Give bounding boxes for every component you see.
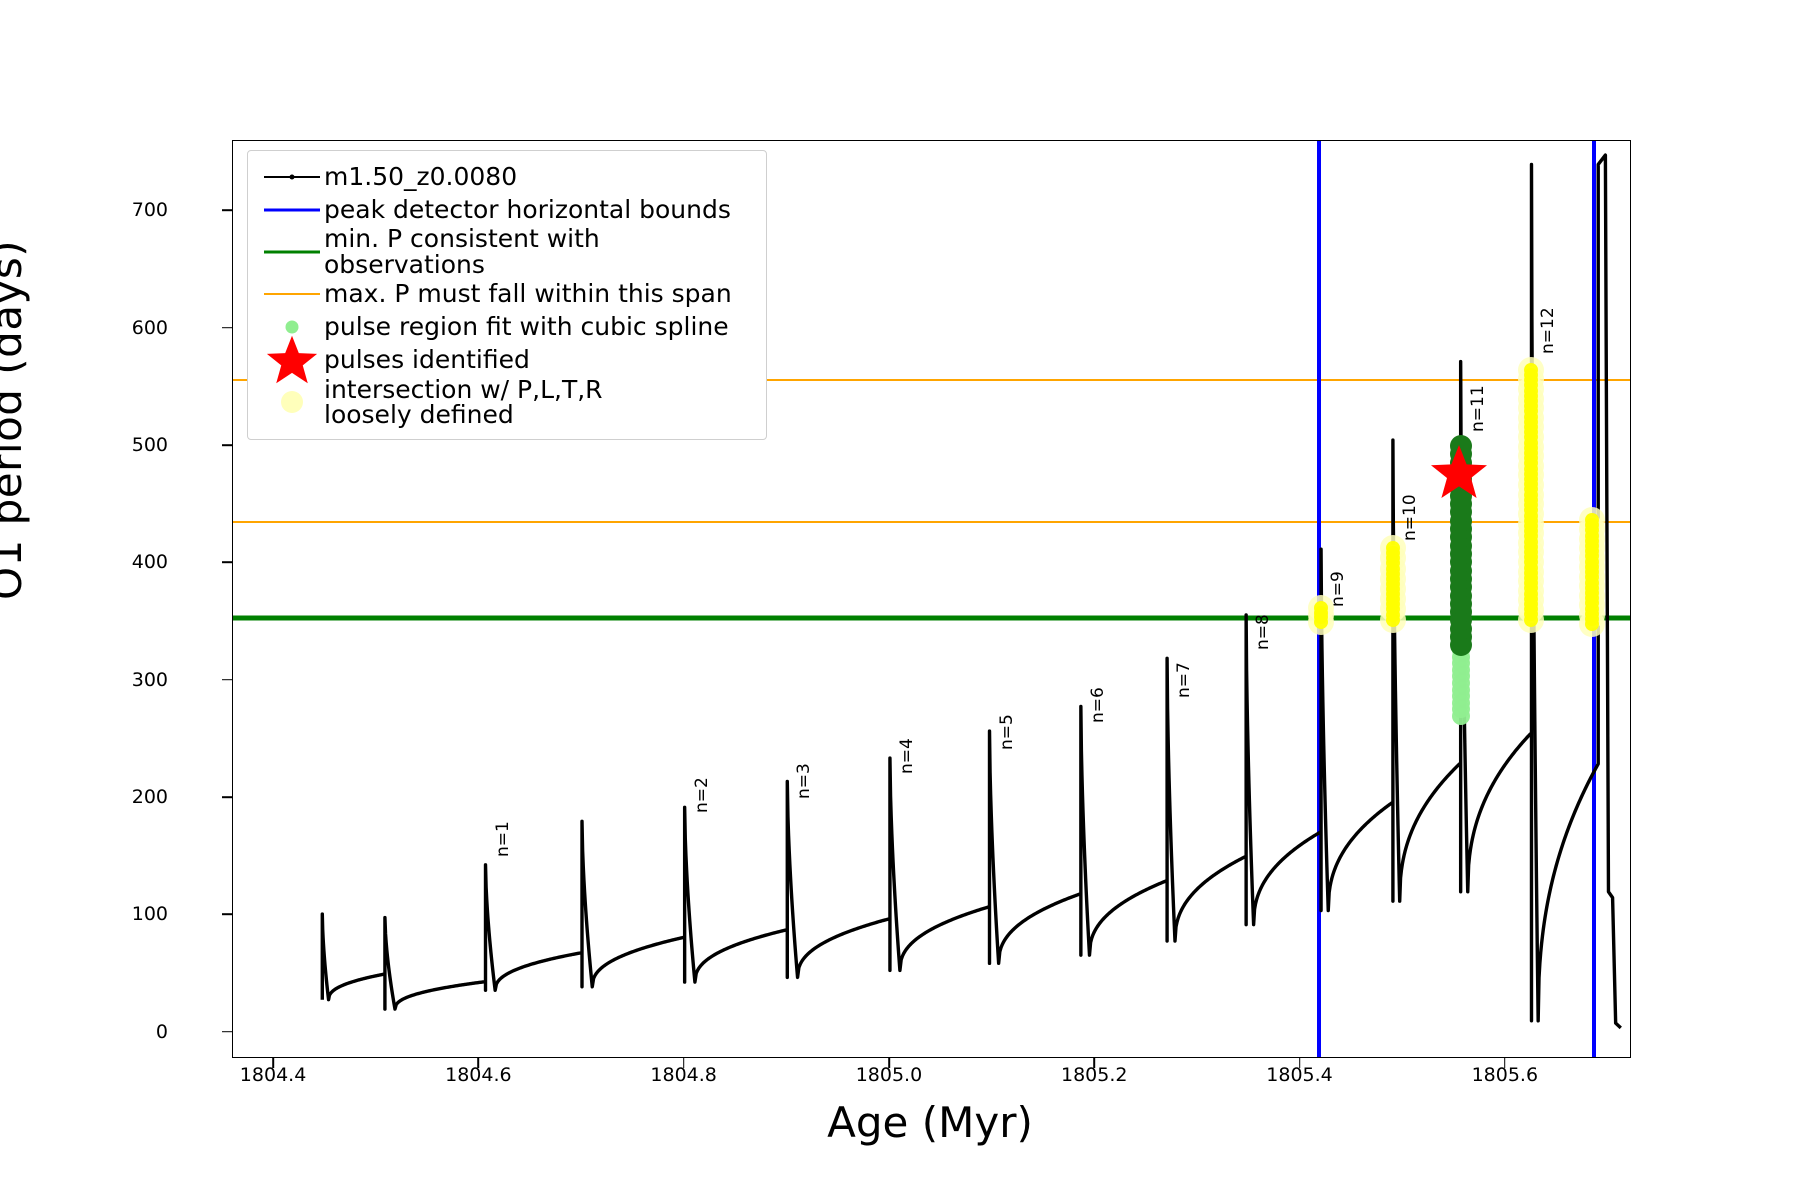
pulse-number-label: n=10 (1400, 495, 1420, 542)
x-tick-mark (1299, 1058, 1301, 1068)
pulse-number-label: n=6 (1088, 687, 1108, 723)
y-tick-mark (222, 444, 232, 446)
legend-entry-label: peak detector horizontal bounds (324, 197, 731, 223)
legend-entry[interactable]: peak detector horizontal bounds (260, 193, 752, 226)
x-tick-mark (1093, 1058, 1095, 1068)
legend-entry[interactable]: pulses identified (260, 343, 752, 376)
x-tick-mark (888, 1058, 890, 1068)
pulse-number-label: n=4 (897, 738, 917, 774)
x-tick-mark (683, 1058, 685, 1068)
legend-entry-label: intersection w/ P,L,T,R loosely defined (324, 377, 603, 428)
x-axis-label: Age (Myr) (0, 1098, 1800, 1147)
legend-star-icon (265, 334, 319, 386)
pulse-number-label: n=12 (1538, 307, 1558, 354)
legend-entry[interactable]: intersection w/ P,L,T,R loosely defined (260, 376, 752, 428)
pulse-number-label: n=2 (692, 778, 712, 814)
x-tick-mark (478, 1058, 480, 1068)
y-tick-mark (222, 1031, 232, 1033)
y-tick-label: 300 (48, 669, 168, 691)
pulse-number-label: n=1 (493, 821, 513, 857)
y-tick-mark (222, 796, 232, 798)
y-tick-mark (222, 679, 232, 681)
pulse-number-label: n=7 (1174, 663, 1194, 699)
legend-key-line-icon (260, 238, 324, 266)
legend-entry-label: m1.50_z0.0080 (324, 164, 517, 190)
pulse-number-label: n=8 (1253, 614, 1273, 650)
legend-key-star-icon (260, 346, 324, 374)
legend-key-dot-large-icon (260, 388, 324, 416)
y-tick-label: 700 (48, 199, 168, 221)
intersection-marker (1314, 601, 1328, 615)
y-tick-label: 200 (48, 786, 168, 808)
y-tick-label: 0 (48, 1021, 168, 1043)
legend-key-line-thin-icon (260, 280, 324, 308)
intersection-marker (1386, 541, 1400, 555)
y-tick-label: 100 (48, 903, 168, 925)
y-tick-label: 600 (48, 317, 168, 339)
intersection-marker (1585, 513, 1599, 527)
y-tick-label: 500 (48, 434, 168, 456)
pulse-number-label: n=11 (1468, 385, 1488, 432)
legend-entry[interactable]: m1.50_z0.0080 (260, 160, 752, 193)
legend-point-marker-icon (290, 174, 295, 179)
legend-entry[interactable]: max. P must fall within this span (260, 277, 752, 310)
pulse-star-marker (1429, 443, 1489, 501)
y-tick-mark (222, 913, 232, 915)
y-tick-mark (222, 327, 232, 329)
legend-dot-icon (286, 320, 299, 333)
pulse-number-label: n=3 (794, 763, 814, 799)
legend-entry-label: pulse region fit with cubic spline (324, 314, 729, 340)
legend-entry-label: max. P must fall within this span (324, 281, 732, 307)
x-tick-mark (272, 1058, 274, 1068)
legend-entry[interactable]: pulse region fit with cubic spline (260, 310, 752, 343)
legend-key-line-with-marker-icon (260, 163, 324, 191)
legend-dot-icon (281, 391, 303, 413)
x-tick-mark (1504, 1058, 1506, 1068)
legend-box: m1.50_z0.0080peak detector horizontal bo… (247, 150, 767, 440)
legend-entry-label: min. P consistent with observations (324, 226, 752, 277)
legend-key-line-icon (260, 196, 324, 224)
y-tick-mark (222, 210, 232, 212)
legend-entry-label: pulses identified (324, 347, 530, 373)
figure-canvas: O1 period (days) Age (Myr) 0100200300400… (0, 0, 1800, 1200)
y-tick-mark (222, 562, 232, 564)
y-axis-label: O1 period (days) (0, 240, 31, 600)
y-tick-label: 400 (48, 551, 168, 573)
plot-area: n=1n=2n=3n=4n=5n=6n=7n=8n=9n=10n=11n=12 … (232, 140, 1631, 1058)
pulse-number-label: n=5 (997, 714, 1017, 750)
legend-entry[interactable]: min. P consistent with observations (260, 226, 752, 277)
